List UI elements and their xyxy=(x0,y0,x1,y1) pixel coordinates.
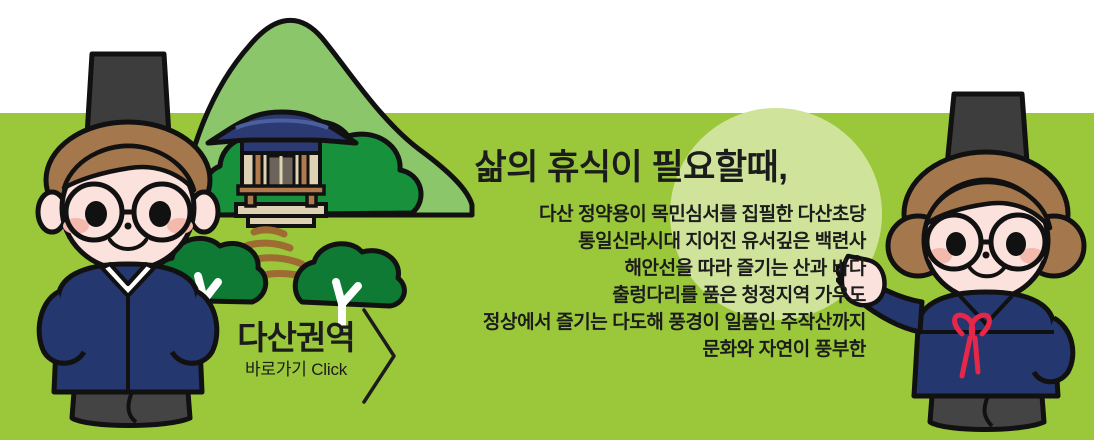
chevron-right-icon[interactable] xyxy=(358,306,402,406)
character-female-scholar xyxy=(836,88,1094,440)
pavilion-floor-beam xyxy=(238,186,324,194)
robe xyxy=(914,292,1058,396)
eye-right xyxy=(1006,232,1026,256)
description-line: 해안선을 따라 즐기는 산과 바다 xyxy=(396,255,866,282)
description-line: 문화와 자연이 풍부한 xyxy=(396,336,866,363)
description-line: 통일신라시대 지어진 유서깊은 백련사 xyxy=(396,228,866,255)
nose xyxy=(983,252,990,259)
pavilion-stairs xyxy=(248,216,314,226)
eye-left xyxy=(946,232,966,256)
description-line: 다산 정약용이 목민심서를 집필한 다산초당 xyxy=(396,201,866,228)
page-title: 삶의 휴식이 필요할때, xyxy=(396,150,866,185)
description-line: 출렁다리를 품은 청정지역 가우도 xyxy=(396,282,866,309)
promo-banner: 삶의 휴식이 필요할때, 다산 정약용이 목민심서를 집필한 다산초당 통일신라… xyxy=(0,0,1094,440)
eye-right xyxy=(149,201,171,227)
eye-left xyxy=(85,201,107,227)
description-line: 정상에서 즐기는 다도해 풍경이 일품인 주작산까지 xyxy=(396,309,866,336)
promo-text-block: 삶의 휴식이 필요할때, 다산 정약용이 목민심서를 집필한 다산초당 통일신라… xyxy=(396,150,866,363)
description-list: 다산 정약용이 목민심서를 집필한 다산초당 통일신라시대 지어진 유서깊은 백… xyxy=(396,201,866,363)
nose xyxy=(125,223,132,230)
